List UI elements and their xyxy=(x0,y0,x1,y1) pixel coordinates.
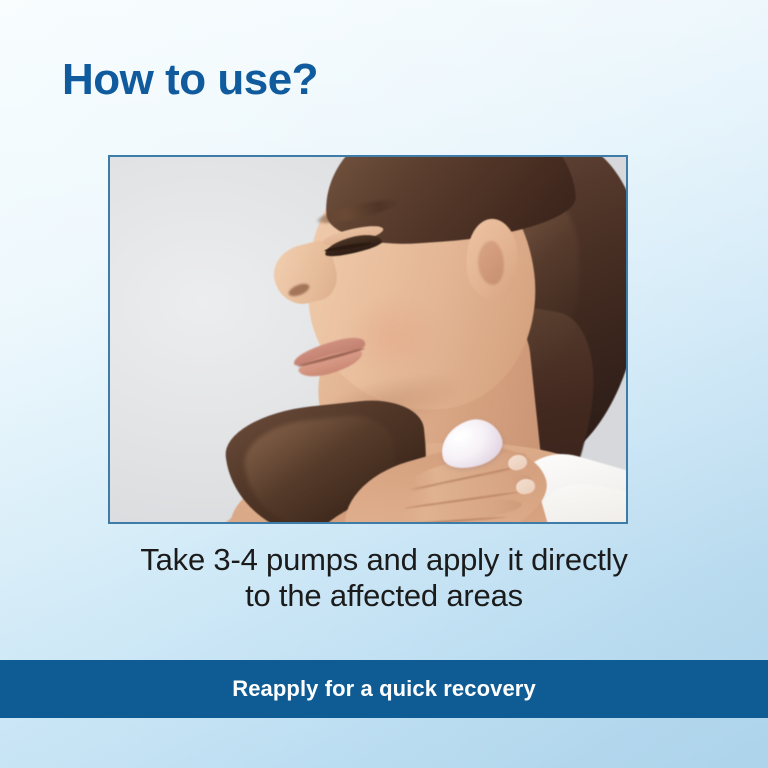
instruction-photo xyxy=(110,157,626,522)
banner-text: Reapply for a quick recovery xyxy=(232,676,536,702)
instruction-photo-frame xyxy=(108,155,628,524)
how-to-use-slide: How to use? xyxy=(0,0,768,768)
caption-line-2: to the affected areas xyxy=(0,578,768,614)
instruction-caption: Take 3-4 pumps and apply it directly to … xyxy=(0,542,768,614)
cheek xyxy=(346,297,442,375)
page-title: How to use? xyxy=(62,55,318,104)
caption-line-1: Take 3-4 pumps and apply it directly xyxy=(0,542,768,578)
bottom-banner: Reapply for a quick recovery xyxy=(0,660,768,718)
